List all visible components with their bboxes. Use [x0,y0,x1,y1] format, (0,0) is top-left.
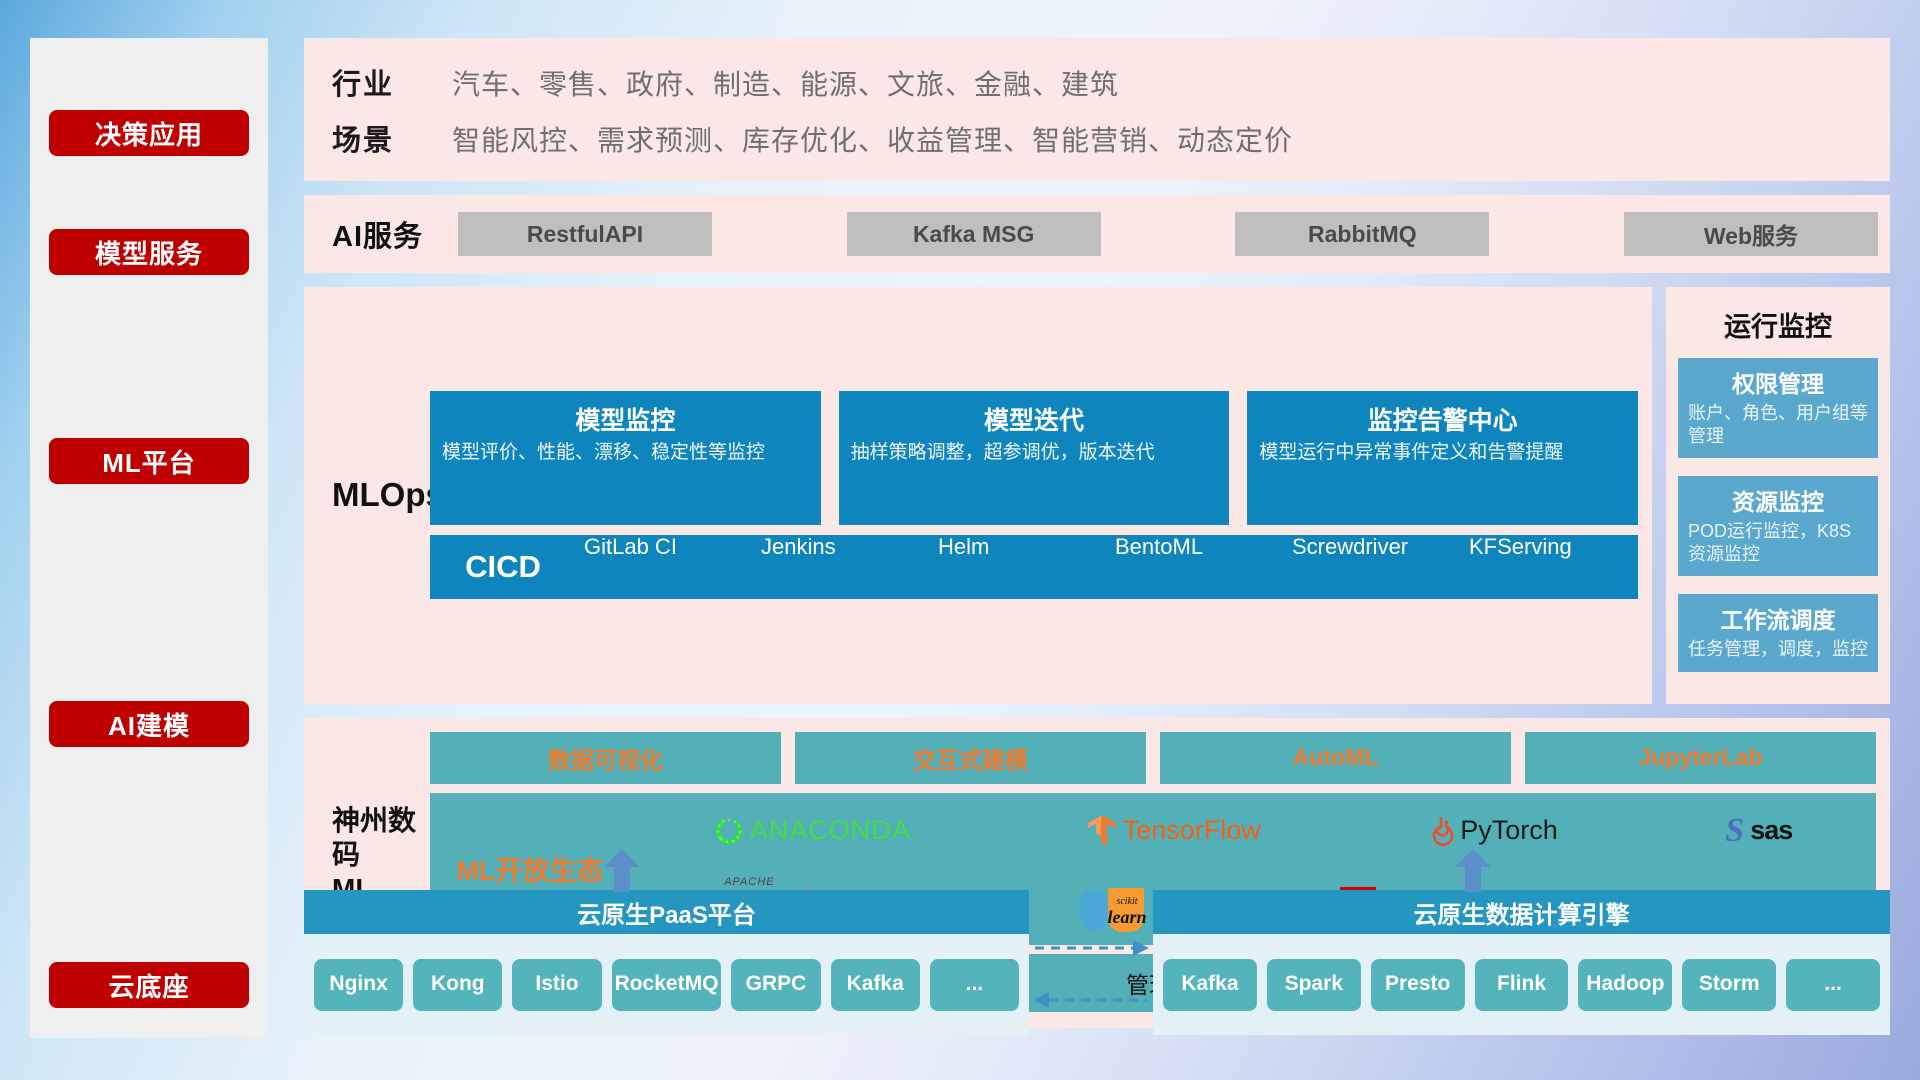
runtime-monitor-column: 运行监控 权限管理 账户、角色、用户组等管理 资源监控 POD运行监控，K8S资… [1666,287,1890,704]
sas-logo-text: sas [1750,815,1792,846]
ai-service-label: AI服务 [332,213,458,255]
tool-data-visualization[interactable]: 数据可视化 [430,732,781,784]
service-button-web[interactable]: Web服务 [1624,212,1878,256]
service-button-label: Web服务 [1704,217,1798,251]
mlops-band: MLOps 模型监控 模型评价、性能、漂移、稳定性等监控 模型迭代 抽样策略调整… [304,287,1652,704]
rail-item-ai-modeling[interactable]: AI建模 [49,701,249,747]
card-desc: 模型评价、性能、漂移、稳定性等监控 [442,441,809,465]
logo-line-1: ANACONDA. TensorFlow [630,793,1876,869]
card-desc: 任务管理，调度，监控 [1688,638,1868,661]
paas-title: 云原生PaaS平台 [304,890,1029,934]
cicd-item-jenkins[interactable]: Jenkins [753,535,930,599]
bidirectional-arrow-gap [1029,890,1153,1035]
card-title: 资源监控 [1688,483,1868,517]
decision-app-band: 行业 汽车、零售、政府、制造、能源、文旅、金融、建筑 场景 智能风控、需求预测、… [304,38,1890,181]
paas-chip-istio[interactable]: Istio [512,959,601,1011]
scene-value: 智能风控、需求预测、库存优化、收益管理、智能营销、动态定价 [452,119,1293,159]
service-button-restfulapi[interactable]: RestfulAPI [458,212,712,256]
card-title: 监控告警中心 [1259,401,1626,437]
data-engine-panel: 云原生数据计算引擎 Kafka Spark Presto Flink Hadoo… [1153,890,1890,1035]
service-button-rabbitmq[interactable]: RabbitMQ [1235,212,1489,256]
cicd-item-bentoml[interactable]: BentoML [1107,535,1284,599]
main-column: 行业 汽车、零售、政府、制造、能源、文旅、金融、建筑 场景 智能风控、需求预测、… [304,38,1890,1028]
engine-title: 云原生数据计算引擎 [1153,890,1890,934]
engine-chip-spark[interactable]: Spark [1267,959,1361,1011]
cicd-item-kfserving[interactable]: KFServing [1461,535,1638,599]
card-title: 模型迭代 [851,401,1218,437]
ml-lab-label-line1: 神州数码 [332,804,430,871]
card-title: 模型监控 [442,401,809,437]
scene-line: 场景 智能风控、需求预测、库存优化、收益管理、智能营销、动态定价 [332,117,1890,159]
industry-label: 行业 [332,61,452,103]
anaconda-logo: ANACONDA. [714,815,920,846]
engine-chip-presto[interactable]: Presto [1371,959,1465,1011]
sas-icon: S [1725,812,1744,850]
card-desc: POD运行监控，K8S资源监控 [1688,520,1868,565]
engine-up-arrow-icon [1453,848,1493,892]
rail-item-label: 云底座 [108,967,189,1004]
mlops-label: MLOps [304,476,430,514]
bidirectional-dashed-arrows-icon [1029,890,1153,1035]
engine-chip-storm[interactable]: Storm [1682,959,1776,1011]
paas-chip-nginx[interactable]: Nginx [314,959,403,1011]
paas-chip-kong[interactable]: Kong [413,959,502,1011]
rail-item-decision-app[interactable]: 决策应用 [49,110,249,156]
rail-item-model-service[interactable]: 模型服务 [49,229,249,275]
ai-service-band: AI服务 RestfulAPI Kafka MSG RabbitMQ Web服务 [304,195,1890,273]
industry-value: 汽车、零售、政府、制造、能源、文旅、金融、建筑 [452,63,1119,103]
pytorch-logo-text: PyTorch [1460,815,1558,846]
card-desc: 抽样策略调整，超参调优，版本迭代 [851,441,1218,465]
monitor-card-permission[interactable]: 权限管理 账户、角色、用户组等管理 [1678,358,1878,458]
card-title: 工作流调度 [1688,601,1868,635]
scene-label: 场景 [332,117,452,159]
runtime-monitor-title: 运行监控 [1678,305,1878,344]
engine-chip-hadoop[interactable]: Hadoop [1578,959,1672,1011]
tensorflow-icon [1087,814,1117,848]
mlops-cards: 模型监控 模型评价、性能、漂移、稳定性等监控 模型迭代 抽样策略调整，超参调优，… [430,391,1638,525]
anaconda-icon [714,816,744,846]
engine-chip-flink[interactable]: Flink [1475,959,1569,1011]
monitor-card-workflow[interactable]: 工作流调度 任务管理，调度，监控 [1678,594,1878,672]
modeling-tool-row: 数据可视化 交互式建模 AutoML JupyterLab [430,732,1876,784]
pytorch-icon [1428,815,1454,847]
cicd-bar: CICD GitLab CI Jenkins Helm BentoML Scre… [430,535,1638,599]
anaconda-logo-text: ANACONDA. [750,815,920,846]
rail-item-cloud-base[interactable]: 云底座 [49,962,249,1008]
cloud-base-row: 云原生PaaS平台 Nginx Kong Istio RocketMQ GRPC… [304,890,1890,1035]
ai-service-buttons: RestfulAPI Kafka MSG RabbitMQ Web服务 [458,212,1890,256]
paas-chip-rocketmq[interactable]: RocketMQ [612,959,722,1011]
tool-automl[interactable]: AutoML [1160,732,1511,784]
card-desc: 模型运行中异常事件定义和告警提醒 [1259,441,1626,465]
card-desc: 账户、角色、用户组等管理 [1688,402,1868,447]
service-button-label: Kafka MSG [913,221,1034,248]
paas-chip-more[interactable]: ... [930,959,1019,1011]
mlops-card-model-monitoring[interactable]: 模型监控 模型评价、性能、漂移、稳定性等监控 [430,391,821,525]
ml-ecosystem-label: ML开放生态 [430,849,630,888]
mlops-content: 模型监控 模型评价、性能、漂移、稳定性等监控 模型迭代 抽样策略调整，超参调优，… [430,391,1638,599]
tool-interactive-modeling[interactable]: 交互式建模 [795,732,1146,784]
paas-panel: 云原生PaaS平台 Nginx Kong Istio RocketMQ GRPC… [304,890,1029,1035]
spark-apache-text: APACHE [724,876,774,888]
paas-up-arrow-icon [602,848,642,892]
cicd-item-screwdriver[interactable]: Screwdriver [1284,535,1461,599]
left-rail: 决策应用 模型服务 ML平台 AI建模 云底座 [30,38,268,1038]
service-button-label: RabbitMQ [1308,221,1417,248]
tensorflow-logo-text: TensorFlow [1123,815,1261,846]
rail-item-label: AI建模 [108,706,190,743]
engine-chips: Kafka Spark Presto Flink Hadoop Storm ..… [1153,934,1890,1035]
rail-item-label: 决策应用 [95,115,203,152]
cicd-item-helm[interactable]: Helm [930,535,1107,599]
cicd-title: CICD [430,549,576,585]
paas-chip-grpc[interactable]: GRPC [731,959,820,1011]
mlops-card-alert-center[interactable]: 监控告警中心 模型运行中异常事件定义和告警提醒 [1247,391,1638,525]
card-title: 权限管理 [1688,365,1868,399]
engine-chip-kafka[interactable]: Kafka [1163,959,1257,1011]
monitor-card-resource[interactable]: 资源监控 POD运行监控，K8S资源监控 [1678,476,1878,576]
ml-platform-row: MLOps 模型监控 模型评价、性能、漂移、稳定性等监控 模型迭代 抽样策略调整… [304,287,1890,704]
tool-jupyterlab[interactable]: JupyterLab [1525,732,1876,784]
industry-line: 行业 汽车、零售、政府、制造、能源、文旅、金融、建筑 [332,61,1890,103]
cicd-item-gitlab-ci[interactable]: GitLab CI [576,535,753,599]
rail-item-ml-platform[interactable]: ML平台 [49,438,249,484]
paas-chips: Nginx Kong Istio RocketMQ GRPC Kafka ... [304,934,1029,1035]
paas-chip-kafka[interactable]: Kafka [831,959,920,1011]
mlops-card-model-iteration[interactable]: 模型迭代 抽样策略调整，超参调优，版本迭代 [839,391,1230,525]
tensorflow-logo: TensorFlow [1087,814,1261,848]
pytorch-logo: PyTorch [1428,815,1558,847]
service-button-kafka-msg[interactable]: Kafka MSG [847,212,1101,256]
rail-item-label: 模型服务 [95,234,203,271]
engine-chip-more[interactable]: ... [1786,959,1880,1011]
rail-item-label: ML平台 [102,443,196,480]
sas-logo: S sas [1725,812,1792,850]
service-button-label: RestfulAPI [527,221,643,248]
